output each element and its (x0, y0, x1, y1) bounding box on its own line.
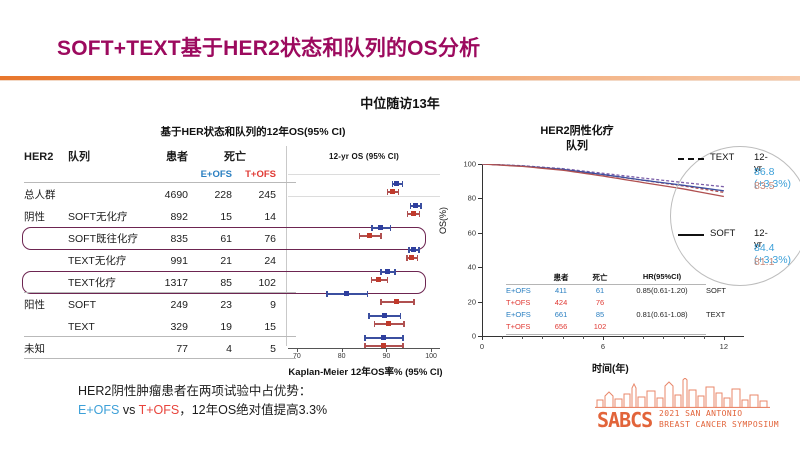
cell-cohort-5: SOFT (68, 294, 146, 316)
forest-gridline-0 (288, 174, 440, 175)
forest-ci-cap (371, 225, 373, 231)
cell-cohort-6: TEXT (68, 316, 146, 338)
km-y-tick-label: 60 (458, 228, 476, 237)
hr-value-0: 0.85(0.61-1.20) (620, 286, 704, 295)
slide: SOFT+TEXT基于HER2状态和队列的OS分析 中位随访13年 基于HER状… (0, 0, 800, 450)
forest-ci-cap (368, 313, 370, 319)
forest-ci-cap (387, 277, 389, 283)
cell-t-ofs-1: 14 (238, 206, 276, 228)
cell-t-ofs-5: 9 (238, 294, 276, 316)
skyline-icon (595, 378, 770, 408)
hr-deaths-1: 76 (584, 298, 616, 307)
hr-table-row: T+OFS42476 (506, 298, 728, 310)
hr-table-row: E+OFS411610.85(0.61-1.20)SOFT (506, 286, 728, 298)
forest-point-T+OFS (390, 189, 395, 194)
km-x-axis-title: 时间(年) (592, 360, 629, 375)
forest-tick-label: 100 (425, 353, 437, 360)
hr-table-header-rule (506, 284, 706, 285)
cell-her2-7: 未知 (24, 338, 66, 360)
forest-ci-cap (410, 203, 412, 209)
forest-point-T+OFS (394, 299, 399, 304)
forest-ci-cap (400, 313, 402, 319)
forest-point-E+OFS (381, 335, 386, 340)
conclusion-line-1: HER2阴性肿瘤患者在两项试验中占优势： (78, 382, 327, 401)
hr-header-patients: 患者 (544, 272, 578, 283)
cell-e-ofs-5: 23 (194, 294, 232, 316)
cell-e-ofs-7: 4 (194, 338, 232, 360)
forest-ci-cap (390, 225, 392, 231)
conclusion-eofs: E+OFS (78, 403, 119, 417)
hr-cohort-0: SOFT (706, 286, 742, 295)
km-x-minor-tick (522, 336, 523, 339)
soft-legend-label: SOFT (710, 228, 735, 239)
forest-plot: 12-yr OS (95% CI) 708090100 Kaplan-Meier… (288, 168, 440, 368)
hr-arm-3: T+OFS (506, 322, 540, 331)
right-panel: HER2阴性化疗 队列 OS(%) 时间(年) 020406080100 061… (440, 124, 788, 372)
sabcs-subtitle: 2021 SAN ANTONIO BREAST CANCER SYMPOSIUM (659, 409, 779, 430)
km-x-minor-tick (563, 336, 564, 339)
forest-tick (431, 348, 432, 352)
forest-point-E+OFS (385, 269, 390, 274)
forest-ci-cap (392, 181, 394, 187)
hr-table-row: T+OFS656102 (506, 322, 728, 334)
cell-patients-0: 4690 (148, 184, 188, 206)
forest-point-E+OFS (344, 291, 349, 296)
forest-ci-cap (380, 233, 382, 239)
cell-e-ofs-6: 19 (194, 316, 232, 338)
km-x-minor-tick (542, 336, 543, 339)
cell-t-ofs-7: 5 (238, 338, 276, 360)
km-x-tick-label: 0 (480, 342, 484, 351)
km-chart-title-line1: HER2阴性化疗 (462, 124, 692, 139)
hr-table-bottom-rule (506, 334, 706, 335)
km-x-minor-tick (583, 336, 584, 339)
forest-point-T+OFS (376, 277, 381, 282)
forest-plot-title: 12-yr OS (95% CI) (288, 152, 440, 161)
hr-deaths-0: 61 (584, 286, 616, 295)
forest-point-E+OFS (382, 313, 387, 318)
forest-ci-cap (394, 269, 396, 275)
hr-cohort-2: TEXT (706, 310, 742, 319)
forest-point-T+OFS (386, 321, 391, 326)
text-legend-label: TEXT (710, 152, 734, 163)
cell-t-ofs-0: 245 (238, 184, 276, 206)
page-title: SOFT+TEXT基于HER2状态和队列的OS分析 (57, 32, 480, 62)
table-group-rule-3 (24, 358, 296, 359)
header-divider-thin (0, 80, 800, 81)
sabcs-subtitle-line2: BREAST CANCER SYMPOSIUM (659, 420, 779, 431)
forest-ci-cap (380, 299, 382, 305)
conclusion-line-2: E+OFS vs T+OFS，12年OS绝对值提高3.3% (78, 401, 327, 420)
km-plot: OS(%) 时间(年) 020406080100 0612 TEXT 12-yr… (482, 164, 744, 336)
soft-legend-value-tofs: 81.1 (754, 256, 774, 268)
slide-subtitle: 中位随访13年 (0, 93, 800, 112)
cell-patients-3: 991 (148, 250, 188, 272)
text-legend-dash-icon (678, 158, 704, 160)
cell-cohort-3: TEXT无化疗 (68, 250, 146, 272)
cell-her2-5: 阳性 (24, 294, 66, 316)
hr-table-row: E+OFS661850.81(0.61-1.08)TEXT (506, 310, 728, 322)
hr-patients-2: 661 (544, 310, 578, 319)
forest-point-T+OFS (367, 233, 372, 238)
km-x-tick (603, 336, 604, 340)
forest-ci-cap (418, 247, 420, 253)
forest-tick (297, 348, 298, 352)
soft-legend-solid-icon (678, 234, 704, 236)
forest-ci-cap (398, 189, 400, 195)
text-legend-value-tofs: 83.5 (754, 180, 774, 192)
cell-t-ofs-6: 15 (238, 316, 276, 338)
km-x-tick (482, 336, 483, 340)
km-x-minor-tick (684, 336, 685, 339)
forest-ci-cap (367, 291, 369, 297)
table-group-rule-1 (24, 292, 296, 293)
km-x-tick-label: 6 (601, 342, 605, 351)
forest-tick-label: 90 (382, 353, 390, 360)
cell-t-ofs-3: 24 (238, 250, 276, 272)
forest-point-E+OFS (394, 181, 399, 186)
km-y-tick-label: 100 (458, 160, 476, 169)
forest-ci-cap (417, 255, 419, 261)
km-y-tick-label: 20 (458, 297, 476, 306)
forest-ci-cap (359, 233, 361, 239)
forest-ci-cap (419, 211, 421, 217)
table-group-rule-0 (24, 182, 296, 183)
cell-e-ofs-1: 15 (194, 206, 232, 228)
hr-header-deaths: 死亡 (584, 272, 616, 283)
forest-point-T+OFS (411, 211, 416, 216)
forest-ci-cap (380, 269, 382, 275)
left-panel: 基于HER状态和队列的12年OS(95% CI) HER2队列患者死亡E+OFS… (18, 124, 438, 369)
hr-arm-1: T+OFS (506, 298, 540, 307)
cell-patients-7: 77 (148, 338, 188, 360)
os-table: HER2队列患者死亡E+OFST+OFS总人群4690228245阴性SOFT无… (24, 146, 434, 346)
table-group-rule-2 (24, 336, 296, 337)
km-y-tick-label: 40 (458, 263, 476, 272)
forest-ci-cap (420, 203, 422, 209)
km-x-minor-tick (623, 336, 624, 339)
hr-patients-1: 424 (544, 298, 578, 307)
km-x-minor-tick (663, 336, 664, 339)
forest-point-E+OFS (413, 203, 418, 208)
km-x-minor-tick (704, 336, 705, 339)
forest-ci-cap (406, 255, 408, 261)
forest-ci-cap (326, 291, 328, 297)
cell-patients-5: 249 (148, 294, 188, 316)
conclusion-tofs: T+OFS (139, 403, 180, 417)
hr-patients-0: 411 (544, 286, 578, 295)
km-x-tick-label: 12 (720, 342, 728, 351)
forest-point-E+OFS (378, 225, 383, 230)
km-y-tick-label: 80 (458, 194, 476, 203)
forest-ci-cap (374, 321, 376, 327)
forest-ci-cap (402, 335, 404, 341)
conclusion-vs: vs (119, 403, 138, 417)
sabcs-logo: SABCS 2021 SAN ANTONIO BREAST CANCER SYM… (585, 378, 780, 440)
hr-value-2: 0.81(0.61-1.08) (620, 310, 704, 319)
km-x-minor-tick (502, 336, 503, 339)
cell-patients-1: 892 (148, 206, 188, 228)
km-y-tick-label: 0 (458, 332, 476, 341)
forest-tick (386, 348, 387, 352)
forest-tick-label: 70 (293, 353, 301, 360)
km-y-axis-title: OS(%) (438, 207, 448, 234)
table-title: 基于HER状态和队列的12年OS(95% CI) (98, 124, 408, 139)
forest-plot-area (288, 174, 440, 346)
forest-ci-cap (407, 211, 409, 217)
km-x-tick (724, 336, 725, 340)
forest-point-E+OFS (411, 247, 416, 252)
conclusion-tail: ，12年OS绝对值提高3.3% (179, 403, 327, 417)
sabcs-subtitle-line1: 2021 SAN ANTONIO (659, 409, 779, 420)
sabcs-wordmark: SABCS (597, 408, 652, 432)
forest-ci-cap (402, 181, 404, 187)
forest-ci-cap (371, 277, 373, 283)
forest-ci-cap (403, 321, 405, 327)
forest-tick (342, 348, 343, 352)
cell-her2-0: 总人群 (24, 184, 66, 206)
km-chart-title-line2: 队列 (462, 139, 692, 154)
forest-point-T+OFS (409, 255, 414, 260)
km-x-minor-tick (643, 336, 644, 339)
forest-ci-cap (387, 189, 389, 195)
hr-deaths-2: 85 (584, 310, 616, 319)
cell-patients-6: 329 (148, 316, 188, 338)
forest-x-axis (288, 348, 440, 349)
forest-ci-cap (364, 335, 366, 341)
hr-header-hr: HR(95%CI) (620, 272, 704, 281)
hr-deaths-3: 102 (584, 322, 616, 331)
forest-tick-label: 80 (338, 353, 346, 360)
cell-e-ofs-3: 21 (194, 250, 232, 272)
forest-ci-cap (413, 299, 415, 305)
forest-gridline-1 (288, 196, 440, 197)
km-chart-title: HER2阴性化疗 队列 (462, 124, 692, 154)
hr-arm-0: E+OFS (506, 286, 540, 295)
conclusion-text: HER2阴性肿瘤患者在两项试验中占优势： E+OFS vs T+OFS，12年O… (78, 382, 327, 420)
cell-cohort-1: SOFT无化疗 (68, 206, 146, 228)
km-x-axis (482, 336, 744, 337)
hr-arm-2: E+OFS (506, 310, 540, 319)
hr-patients-3: 656 (544, 322, 578, 331)
cell-her2-1: 阴性 (24, 206, 66, 228)
cell-e-ofs-0: 228 (194, 184, 232, 206)
forest-ci-cap (408, 247, 410, 253)
hr-table-header: 患者死亡HR(95%CI) (506, 272, 728, 284)
